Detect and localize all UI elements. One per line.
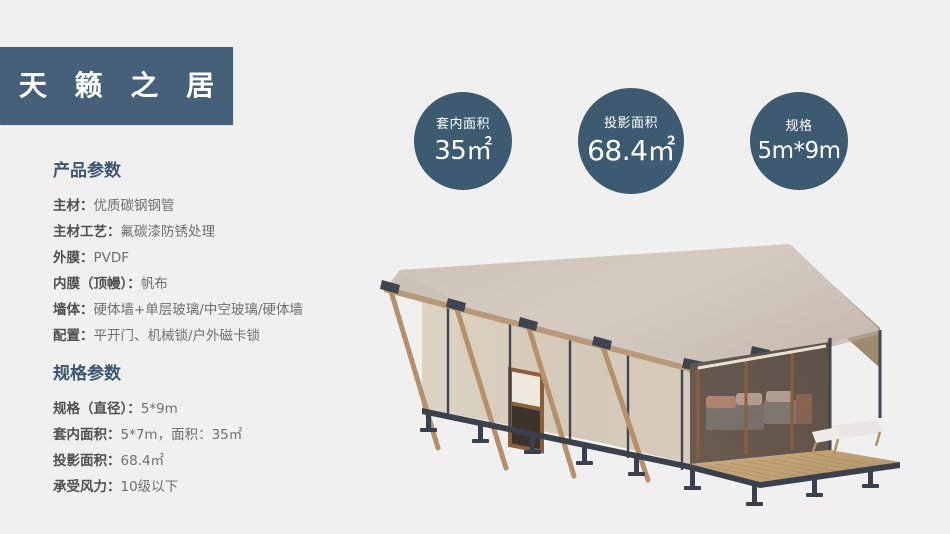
window-left	[508, 367, 544, 454]
spec-label: 主材工艺：	[53, 224, 121, 240]
stat-value: 35㎡	[434, 138, 492, 164]
spec-label: 主材：	[53, 198, 94, 214]
spec-section-heading: 规格参数	[53, 366, 383, 383]
stat-badge-dimensions: 规格 5m*9m	[750, 92, 848, 190]
spec-row: 规格（直径）：5*9m	[53, 396, 383, 422]
spec-label: 内膜（顶幔）：	[53, 276, 141, 292]
spec-row: 主材：优质碳钢钢管	[53, 193, 383, 219]
spec-label: 配置：	[53, 328, 94, 344]
spec-label: 外膜：	[53, 250, 94, 266]
stat-badge-projected-area: 投影面积 68.4㎡	[578, 88, 684, 194]
spec-value: 68.4㎡	[121, 453, 165, 469]
spec-value: PVDF	[94, 250, 130, 266]
spec-row: 主材工艺：氟碳漆防锈处理	[53, 219, 383, 245]
stat-label: 规格	[785, 120, 812, 133]
stat-label: 投影面积	[604, 117, 658, 130]
spec-value: 10级以下	[121, 479, 179, 495]
stat-label: 套内面积	[436, 118, 490, 131]
spec-value: 5*7m，面积：35㎡	[121, 427, 243, 443]
spec-row: 套内面积：5*7m，面积：35㎡	[53, 422, 383, 448]
spec-label: 投影面积：	[53, 453, 121, 469]
tent-house-svg: XUELIAN	[360, 218, 930, 518]
spec-row: 墙体：硬体墙+单层玻璃/中空玻璃/硬体墙	[53, 297, 383, 323]
spec-label: 承受风力：	[53, 479, 121, 495]
tent-house-render: XUELIAN	[360, 218, 930, 518]
spec-value: 氟碳漆防锈处理	[121, 224, 216, 240]
spec-row: 内膜（顶幔）：帆布	[53, 271, 383, 297]
stat-value: 5m*9m	[757, 140, 840, 163]
spec-value: 硬体墙+单层玻璃/中空玻璃/硬体墙	[94, 302, 303, 318]
spec-row: 承受风力：10级以下	[53, 474, 383, 500]
product-spec-page: 天 籁 之 居 产品参数 主材：优质碳钢钢管 主材工艺：氟碳漆防锈处理 外膜：P…	[0, 0, 950, 534]
spec-label: 套内面积：	[53, 427, 121, 443]
spec-label: 规格（直径）：	[53, 401, 141, 417]
spec-value: 优质碳钢钢管	[94, 198, 175, 214]
title-banner: 天 籁 之 居	[0, 47, 233, 125]
spec-value: 平开门、机械锁/户外磁卡锁	[94, 328, 261, 344]
spec-value: 帆布	[141, 276, 168, 292]
stat-badge-interior-area: 套内面积 35㎡	[414, 92, 512, 190]
spec-value: 5*9m	[141, 401, 178, 417]
spec-column: 产品参数 主材：优质碳钢钢管 主材工艺：氟碳漆防锈处理 外膜：PVDF 内膜（顶…	[53, 163, 383, 500]
product-section-heading: 产品参数	[53, 163, 383, 180]
spec-row: 配置：平开门、机械锁/户外磁卡锁	[53, 323, 383, 349]
spec-row: 外膜：PVDF	[53, 245, 383, 271]
spec-row: 投影面积：68.4㎡	[53, 448, 383, 474]
spec-label: 墙体：	[53, 302, 94, 318]
page-title: 天 籁 之 居	[10, 72, 223, 100]
stat-value: 68.4㎡	[587, 137, 675, 165]
